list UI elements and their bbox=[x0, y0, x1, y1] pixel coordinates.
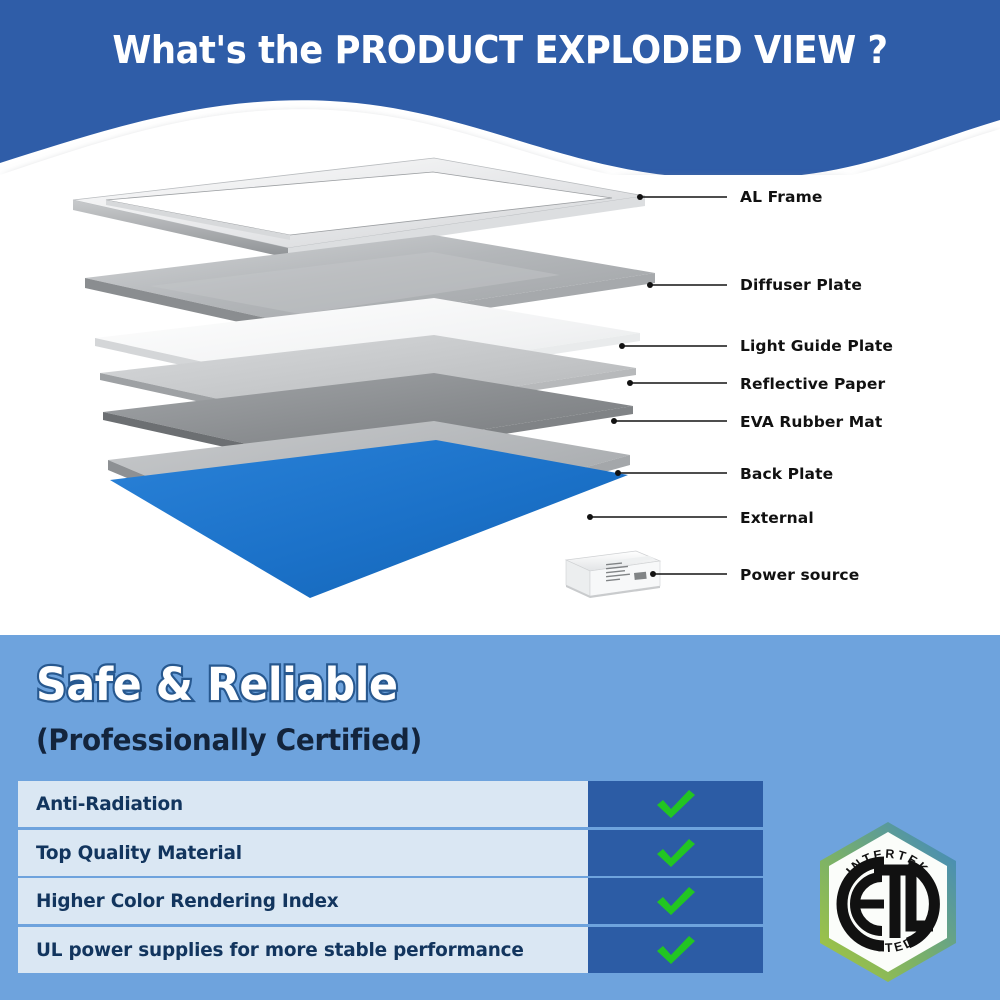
label-back-plate: Back Plate bbox=[740, 465, 833, 483]
feature-check-cell bbox=[588, 830, 763, 876]
page-title: What's the PRODUCT EXPLODED VIEW ? bbox=[35, 28, 965, 72]
label-eva-rubber-mat: EVA Rubber Mat bbox=[740, 413, 882, 431]
exploded-view-section: What's the PRODUCT EXPLODED VIEW ? bbox=[0, 0, 1000, 635]
label-diffuser-plate: Diffuser Plate bbox=[740, 276, 862, 294]
feature-check-cell bbox=[588, 927, 763, 973]
check-icon bbox=[654, 885, 698, 917]
leader-lines bbox=[590, 197, 727, 574]
layer-al-frame bbox=[73, 158, 645, 258]
feature-label: Top Quality Material bbox=[36, 830, 242, 876]
feature-check-cell bbox=[588, 781, 763, 827]
label-power-source: Power source bbox=[740, 566, 859, 584]
feature-check-cell bbox=[588, 878, 763, 924]
leader-dots bbox=[587, 194, 656, 577]
label-al-frame: AL Frame bbox=[740, 188, 822, 206]
label-external: External bbox=[740, 509, 814, 527]
feature-label: Anti-Radiation bbox=[36, 781, 183, 827]
check-icon bbox=[654, 837, 698, 869]
safe-reliable-subtitle: (Professionally Certified) bbox=[36, 723, 422, 757]
table-row: Higher Color Rendering Index bbox=[18, 878, 763, 924]
etl-listed-badge: INTERTEK LISTED bbox=[812, 818, 964, 986]
feature-table: Anti-Radiation Top Quality Material bbox=[18, 781, 763, 975]
label-light-guide-plate: Light Guide Plate bbox=[740, 337, 893, 355]
layer-power-source bbox=[566, 551, 660, 598]
table-row: UL power supplies for more stable perfor… bbox=[18, 927, 763, 973]
check-icon bbox=[654, 934, 698, 966]
table-row: Top Quality Material bbox=[18, 830, 763, 876]
label-reflective-paper: Reflective Paper bbox=[740, 375, 885, 393]
table-row: Anti-Radiation bbox=[18, 781, 763, 827]
feature-label: UL power supplies for more stable perfor… bbox=[36, 927, 524, 973]
feature-label: Higher Color Rendering Index bbox=[36, 878, 339, 924]
safe-reliable-title: Safe & Reliable bbox=[36, 658, 397, 711]
check-icon bbox=[654, 788, 698, 820]
exploded-view-diagram: AL Frame Diffuser Plate Light Guide Plat… bbox=[0, 130, 1000, 635]
